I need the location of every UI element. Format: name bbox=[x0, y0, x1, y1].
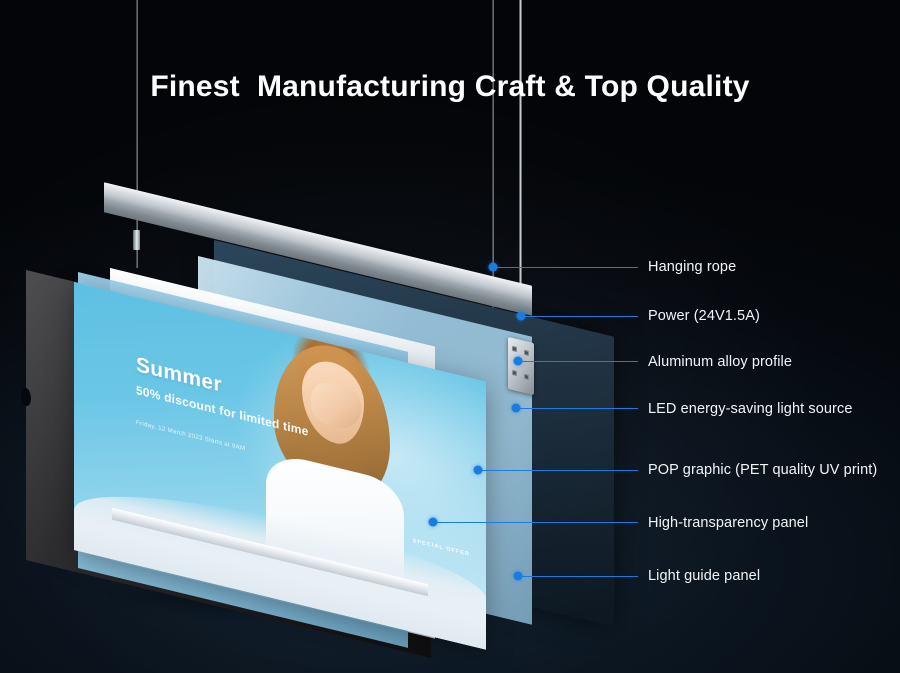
hanging-rope-left bbox=[136, 0, 138, 268]
bracket-screw bbox=[512, 370, 517, 376]
callout-dot-hanging-rope bbox=[489, 263, 498, 272]
callout-label-led-light-source: LED energy-saving light source bbox=[648, 401, 853, 417]
mounting-bracket bbox=[508, 337, 534, 395]
callout-label-power: Power (24V1.5A) bbox=[648, 308, 760, 324]
bracket-screw bbox=[524, 374, 529, 380]
callout-line-light-guide-panel bbox=[518, 576, 638, 577]
callout-label-hanging-rope: Hanging rope bbox=[648, 259, 736, 275]
callout-line-high-transparency bbox=[433, 522, 638, 523]
rope-ferrule-left bbox=[133, 230, 140, 250]
bracket-screw bbox=[524, 350, 529, 356]
callout-line-power bbox=[521, 316, 638, 317]
callout-dot-light-guide-panel bbox=[514, 572, 523, 581]
callout-label-high-transparency: High-transparency panel bbox=[648, 515, 808, 531]
product-exploded-view-diagram: Finest Manufacturing Craft & Top Quality… bbox=[0, 0, 900, 673]
callout-dot-power bbox=[517, 312, 526, 321]
callout-label-aluminum-profile: Aluminum alloy profile bbox=[648, 354, 792, 370]
callout-dot-high-transparency bbox=[429, 518, 438, 527]
bracket-screw bbox=[512, 346, 517, 352]
callout-line-aluminum-profile bbox=[518, 361, 638, 362]
callout-line-hanging-rope bbox=[493, 267, 638, 268]
callout-dot-pop-graphic bbox=[474, 466, 483, 475]
callout-line-pop-graphic bbox=[478, 470, 638, 471]
page-title: Finest Manufacturing Craft & Top Quality bbox=[0, 70, 900, 104]
callout-label-pop-graphic: POP graphic (PET quality UV print) bbox=[648, 462, 877, 478]
callout-label-light-guide-panel: Light guide panel bbox=[648, 568, 760, 584]
callout-dot-aluminum-profile bbox=[514, 357, 523, 366]
callout-line-led-light-source bbox=[516, 408, 638, 409]
callout-dot-led-light-source bbox=[512, 404, 521, 413]
